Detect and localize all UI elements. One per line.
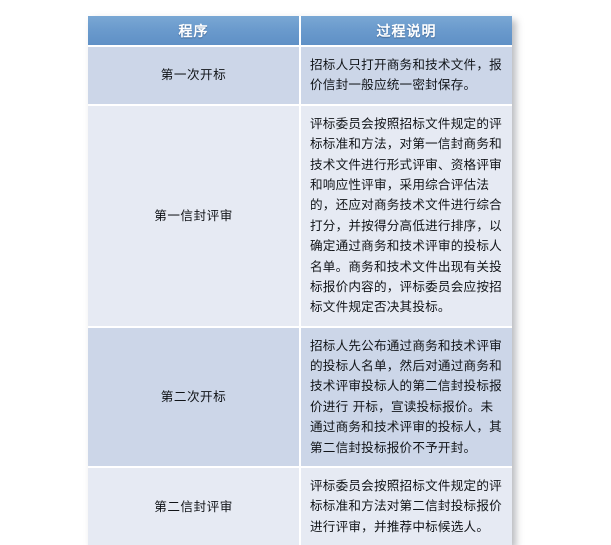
- table-row: 第一信封评审 评标委员会按照招标文件规定的评标标准和方法，对第一信封商务和技术文…: [88, 105, 512, 327]
- page-canvas: 程序 过程说明 第一次开标 招标人只打开商务和技术文件，报价信封一般应统一密封保…: [0, 0, 611, 433]
- cell-procedure: 第二信封评审: [88, 467, 300, 545]
- column-header-description: 过程说明: [300, 16, 512, 46]
- cell-procedure: 第二次开标: [88, 327, 300, 467]
- cell-procedure: 第一次开标: [88, 46, 300, 105]
- table-row: 第一次开标 招标人只打开商务和技术文件，报价信封一般应统一密封保存。: [88, 46, 512, 105]
- table-header: 程序 过程说明: [88, 16, 512, 46]
- table-row: 第二次开标 招标人先公布通过商务和技术评审的投标人名单，然后对通过商务和技术评审…: [88, 327, 512, 467]
- procedure-table-container: 程序 过程说明 第一次开标 招标人只打开商务和技术文件，报价信封一般应统一密封保…: [88, 16, 512, 545]
- table-row: 第二信封评审 评标委员会按照招标文件规定的评标标准和方法对第二信封投标报价进行评…: [88, 467, 512, 545]
- procedure-table: 程序 过程说明 第一次开标 招标人只打开商务和技术文件，报价信封一般应统一密封保…: [88, 16, 512, 545]
- cell-description: 评标委员会按照招标文件规定的评标标准和方法对第二信封投标报价进行评审，并推荐中标…: [300, 467, 512, 545]
- column-header-procedure: 程序: [88, 16, 300, 46]
- cell-description: 招标人只打开商务和技术文件，报价信封一般应统一密封保存。: [300, 46, 512, 105]
- cell-description: 招标人先公布通过商务和技术评审的投标人名单，然后对通过商务和技术评审投标人的第二…: [300, 327, 512, 467]
- cell-procedure: 第一信封评审: [88, 105, 300, 327]
- cell-description: 评标委员会按照招标文件规定的评标标准和方法，对第一信封商务和技术文件进行形式评审…: [300, 105, 512, 327]
- table-body: 第一次开标 招标人只打开商务和技术文件，报价信封一般应统一密封保存。 第一信封评…: [88, 46, 512, 545]
- table-header-row: 程序 过程说明: [88, 16, 512, 46]
